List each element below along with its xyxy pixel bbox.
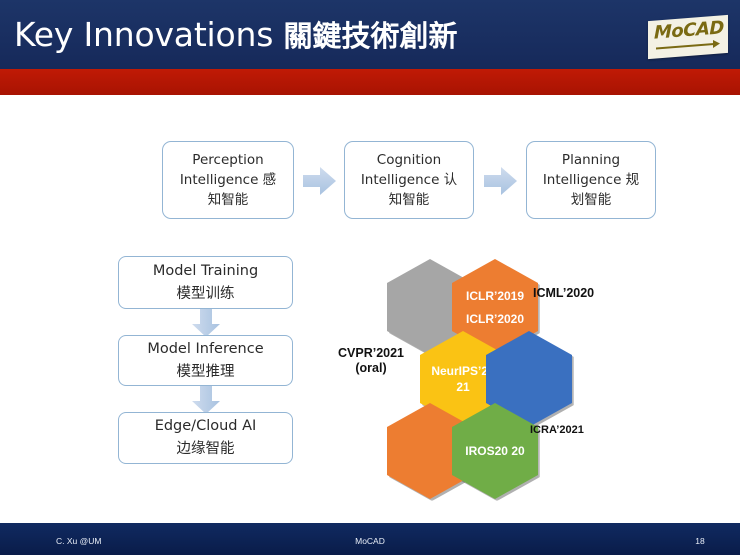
footer-page-number: 18 (0, 536, 740, 546)
pipeline-box-model-training-line1: Model Training (153, 260, 258, 283)
page-title-english: Key Innovations (14, 15, 273, 54)
process-box-planning-line2: Intelligence 规 (543, 170, 639, 190)
hex-neurips-line2: 21 (456, 380, 469, 394)
process-arrow-2-icon (484, 166, 517, 196)
header-accent-bar (0, 69, 740, 95)
pipeline-box-edge-cloud-ai-line1: Edge/Cloud AI (155, 415, 257, 438)
hex-label-cvpr: CVPR’2021 (oral) (338, 346, 404, 376)
hex-iros-line1: IROS20 (465, 444, 508, 458)
pipeline-box-model-inference-line1: Model Inference (147, 338, 263, 361)
hex-label-icml: ICML’2020 (533, 286, 594, 301)
pipeline-box-model-inference: Model Inference 模型推理 (118, 335, 293, 386)
hex-iros-line2: 20 (511, 444, 524, 458)
hex-iclr-line1: ICLR’2019 (466, 289, 524, 303)
process-box-planning-line1: Planning (543, 150, 639, 170)
process-box-planning: Planning Intelligence 规 划智能 (526, 141, 656, 219)
mocad-logo: MoCAD (648, 15, 728, 59)
process-box-perception-line2: Intelligence 感 (180, 170, 276, 190)
process-arrow-1-icon (303, 166, 336, 196)
pipeline-arrow-1-icon (191, 309, 221, 337)
hex-label-cvpr-line2: (oral) (338, 361, 404, 376)
hex-label-icra: ICRA’2021 (530, 423, 584, 438)
hex-iclr-line2: ICLR’2020 (466, 312, 524, 326)
process-box-cognition-line1: Cognition (361, 150, 457, 170)
hex-label-cvpr-line1: CVPR’2021 (338, 346, 404, 361)
process-box-perception-line1: Perception (180, 150, 276, 170)
pipeline-arrow-2-icon (191, 386, 221, 414)
page-title-chinese: 關鍵技術創新 (284, 19, 458, 53)
hex-neurips-line1: NeurIPS’20 (431, 364, 494, 378)
process-box-cognition: Cognition Intelligence 认 知智能 (344, 141, 474, 219)
process-box-perception: Perception Intelligence 感 知智能 (162, 141, 294, 219)
pipeline-box-model-inference-line2: 模型推理 (177, 361, 235, 384)
process-box-planning-line3: 划智能 (543, 190, 639, 210)
arrow-right-icon (656, 43, 714, 50)
page-title: Key Innovations 關鍵技術創新 (14, 12, 458, 59)
pipeline-box-model-training: Model Training 模型训练 (118, 256, 293, 309)
pipeline-box-model-training-line2: 模型训练 (177, 283, 235, 306)
process-box-cognition-line3: 知智能 (361, 190, 457, 210)
pipeline-box-edge-cloud-ai-line2: 边缘智能 (177, 438, 235, 461)
pipeline-box-edge-cloud-ai: Edge/Cloud AI 边缘智能 (118, 412, 293, 464)
slide: Key Innovations 關鍵技術創新 MoCAD Perception … (0, 0, 740, 555)
process-box-cognition-line2: Intelligence 认 (361, 170, 457, 190)
process-box-perception-line3: 知智能 (180, 190, 276, 210)
